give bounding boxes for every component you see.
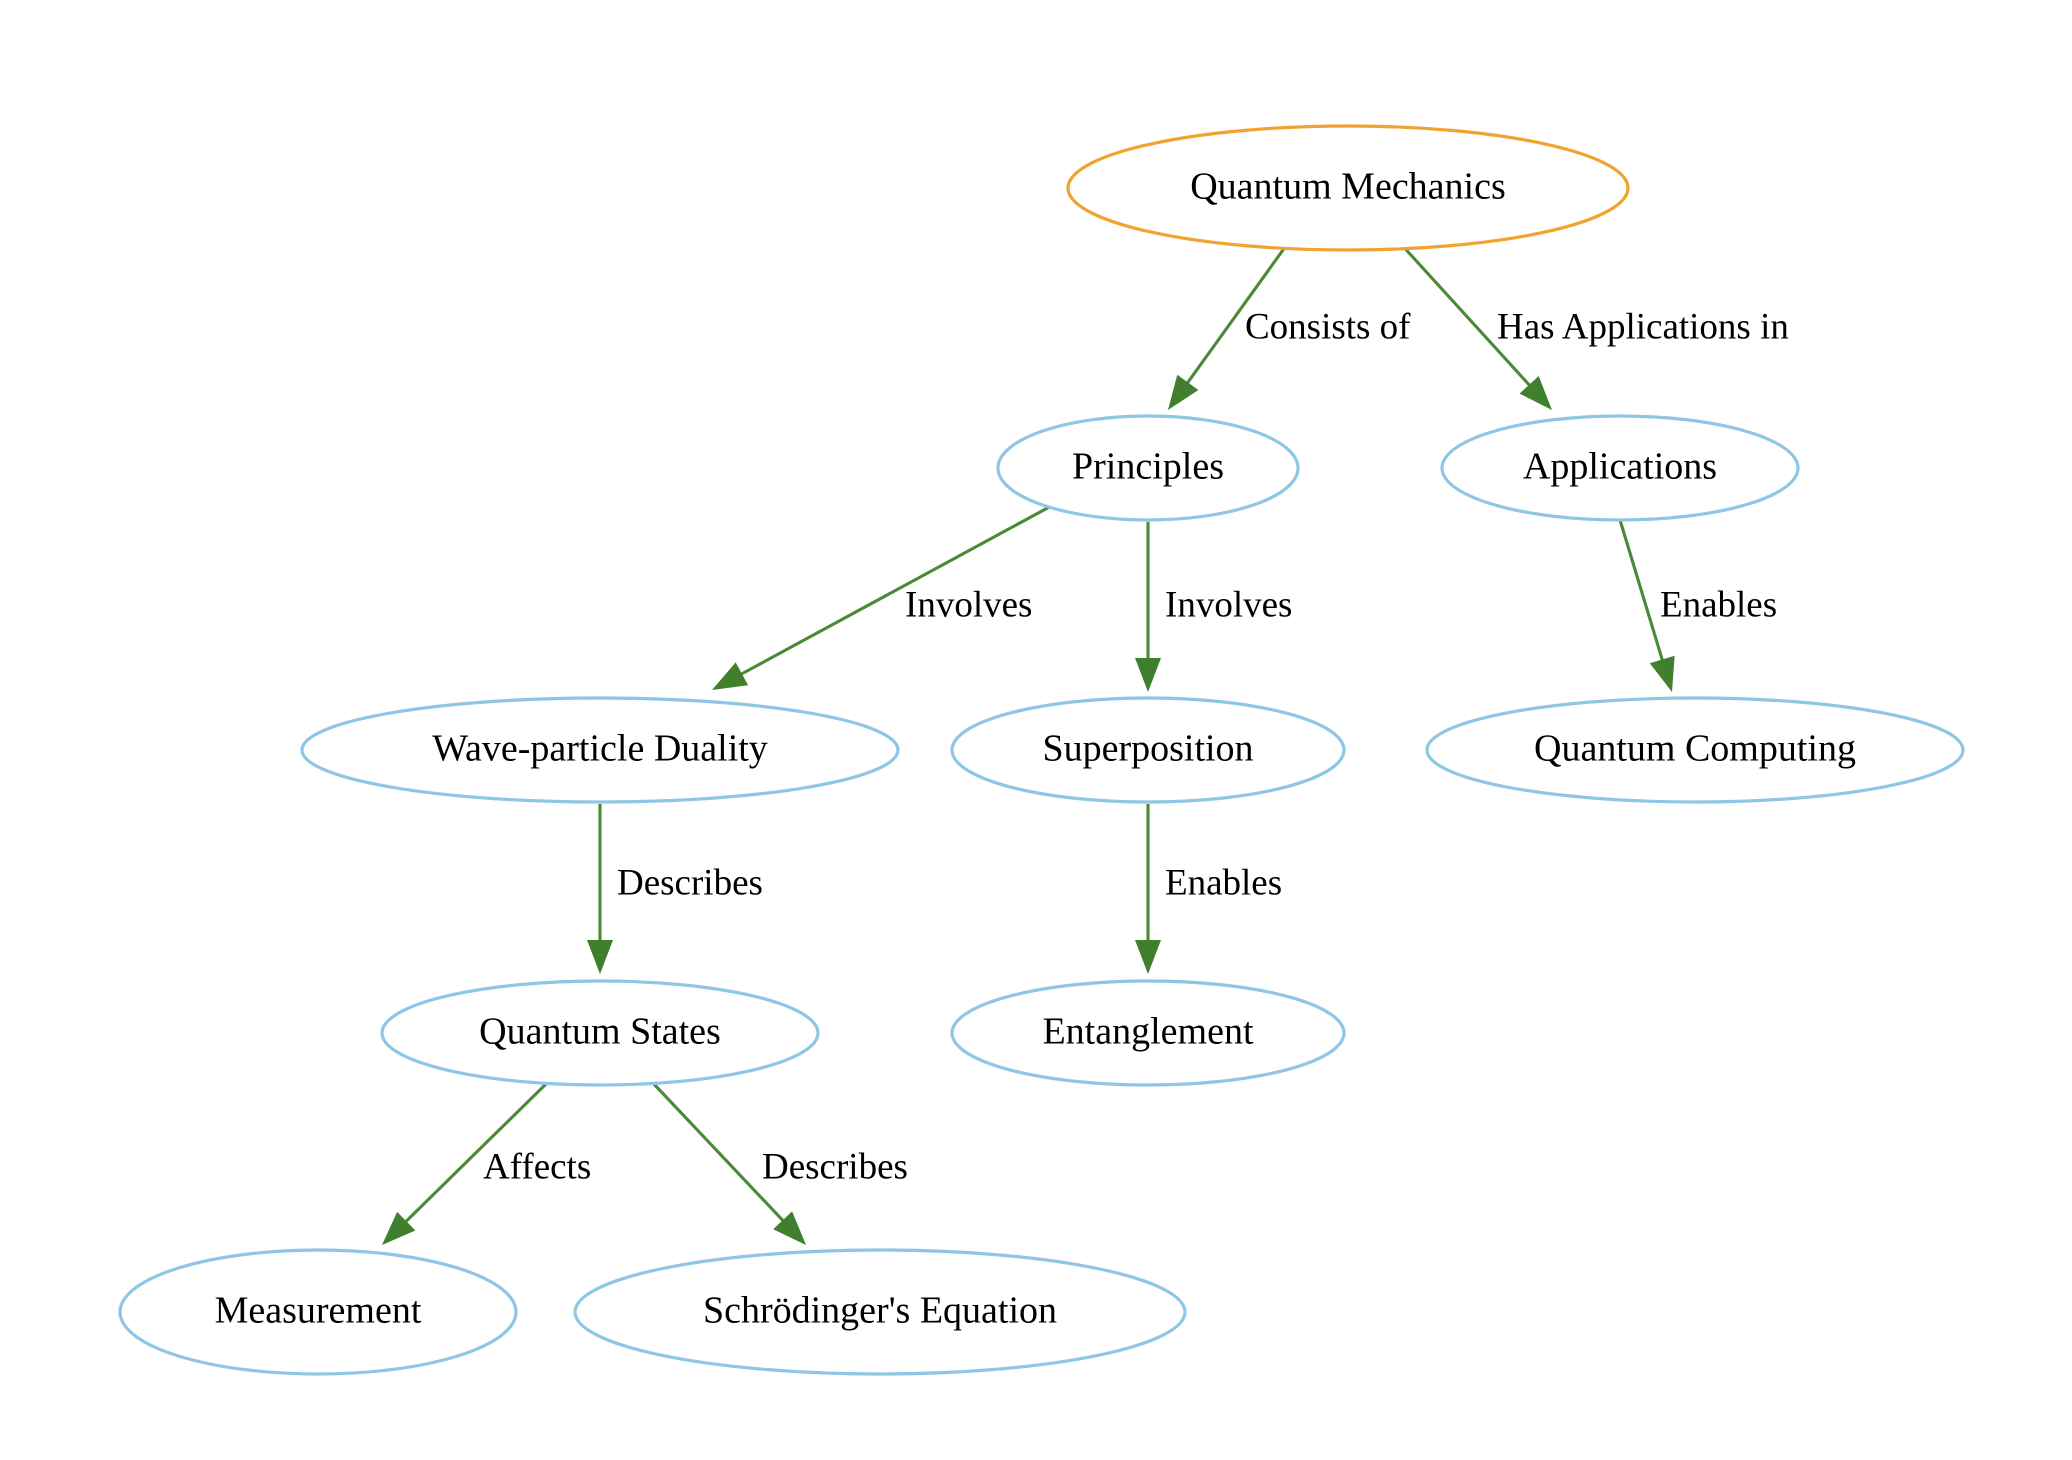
edge-label-qm-applications: Has Applications in xyxy=(1497,306,1789,347)
edge-label-qstates-measurement: Affects xyxy=(483,1146,591,1187)
edge-label-superp-entangle: Enables xyxy=(1165,862,1282,903)
edge-label-principles-wpd: Involves xyxy=(905,584,1032,625)
concept-map-graph: Quantum MechanicsPrinciplesApplicationsW… xyxy=(0,0,2072,1460)
arrowhead-icon xyxy=(1650,656,1675,692)
node-superposition[interactable]: Superposition xyxy=(952,698,1344,802)
node-label-quantum-computing: Quantum Computing xyxy=(1534,728,1856,770)
node-principles[interactable]: Principles xyxy=(998,416,1298,520)
arrowhead-icon xyxy=(1168,375,1198,410)
edge-label-wpd-qstates: Describes xyxy=(617,862,763,903)
edge-wpd-qstates xyxy=(587,804,613,974)
edge-principles-superp xyxy=(1135,522,1161,692)
node-quantum-states[interactable]: Quantum States xyxy=(382,981,818,1085)
node-label-applications: Applications xyxy=(1523,446,1717,488)
arrowhead-icon xyxy=(587,940,613,974)
node-label-principles: Principles xyxy=(1072,446,1224,488)
node-label-measurement: Measurement xyxy=(215,1290,422,1332)
arrowhead-icon xyxy=(1135,658,1161,692)
arrowhead-icon xyxy=(1135,940,1161,974)
arrowhead-icon xyxy=(712,662,748,690)
node-applications[interactable]: Applications xyxy=(1442,416,1798,520)
node-entanglement[interactable]: Entanglement xyxy=(952,981,1344,1085)
node-quantum-computing[interactable]: Quantum Computing xyxy=(1427,698,1963,802)
edge-label-apps-qcomputing: Enables xyxy=(1660,584,1777,625)
node-label-wave-particle-duality: Wave-particle Duality xyxy=(432,728,768,770)
edge-line xyxy=(1620,520,1663,663)
node-quantum-mechanics[interactable]: Quantum Mechanics xyxy=(1068,126,1628,250)
edge-superp-entangle xyxy=(1135,804,1161,974)
node-label-entanglement: Entanglement xyxy=(1042,1011,1253,1053)
edge-label-qstates-schrodinger: Describes xyxy=(762,1146,908,1187)
node-measurement[interactable]: Measurement xyxy=(120,1250,516,1374)
node-label-schrodingers-equation: Schrödinger's Equation xyxy=(703,1290,1057,1332)
edge-label-principles-superp: Involves xyxy=(1165,584,1292,625)
node-schrodingers-equation[interactable]: Schrödinger's Equation xyxy=(575,1250,1185,1374)
edge-label-qm-principles: Consists of xyxy=(1245,306,1411,347)
diagram-canvas: Quantum MechanicsPrinciplesApplicationsW… xyxy=(0,0,2072,1460)
node-label-quantum-states: Quantum States xyxy=(479,1011,721,1053)
node-wave-particle-duality[interactable]: Wave-particle Duality xyxy=(302,698,898,802)
node-label-quantum-mechanics: Quantum Mechanics xyxy=(1190,166,1506,208)
node-label-superposition: Superposition xyxy=(1042,728,1253,770)
